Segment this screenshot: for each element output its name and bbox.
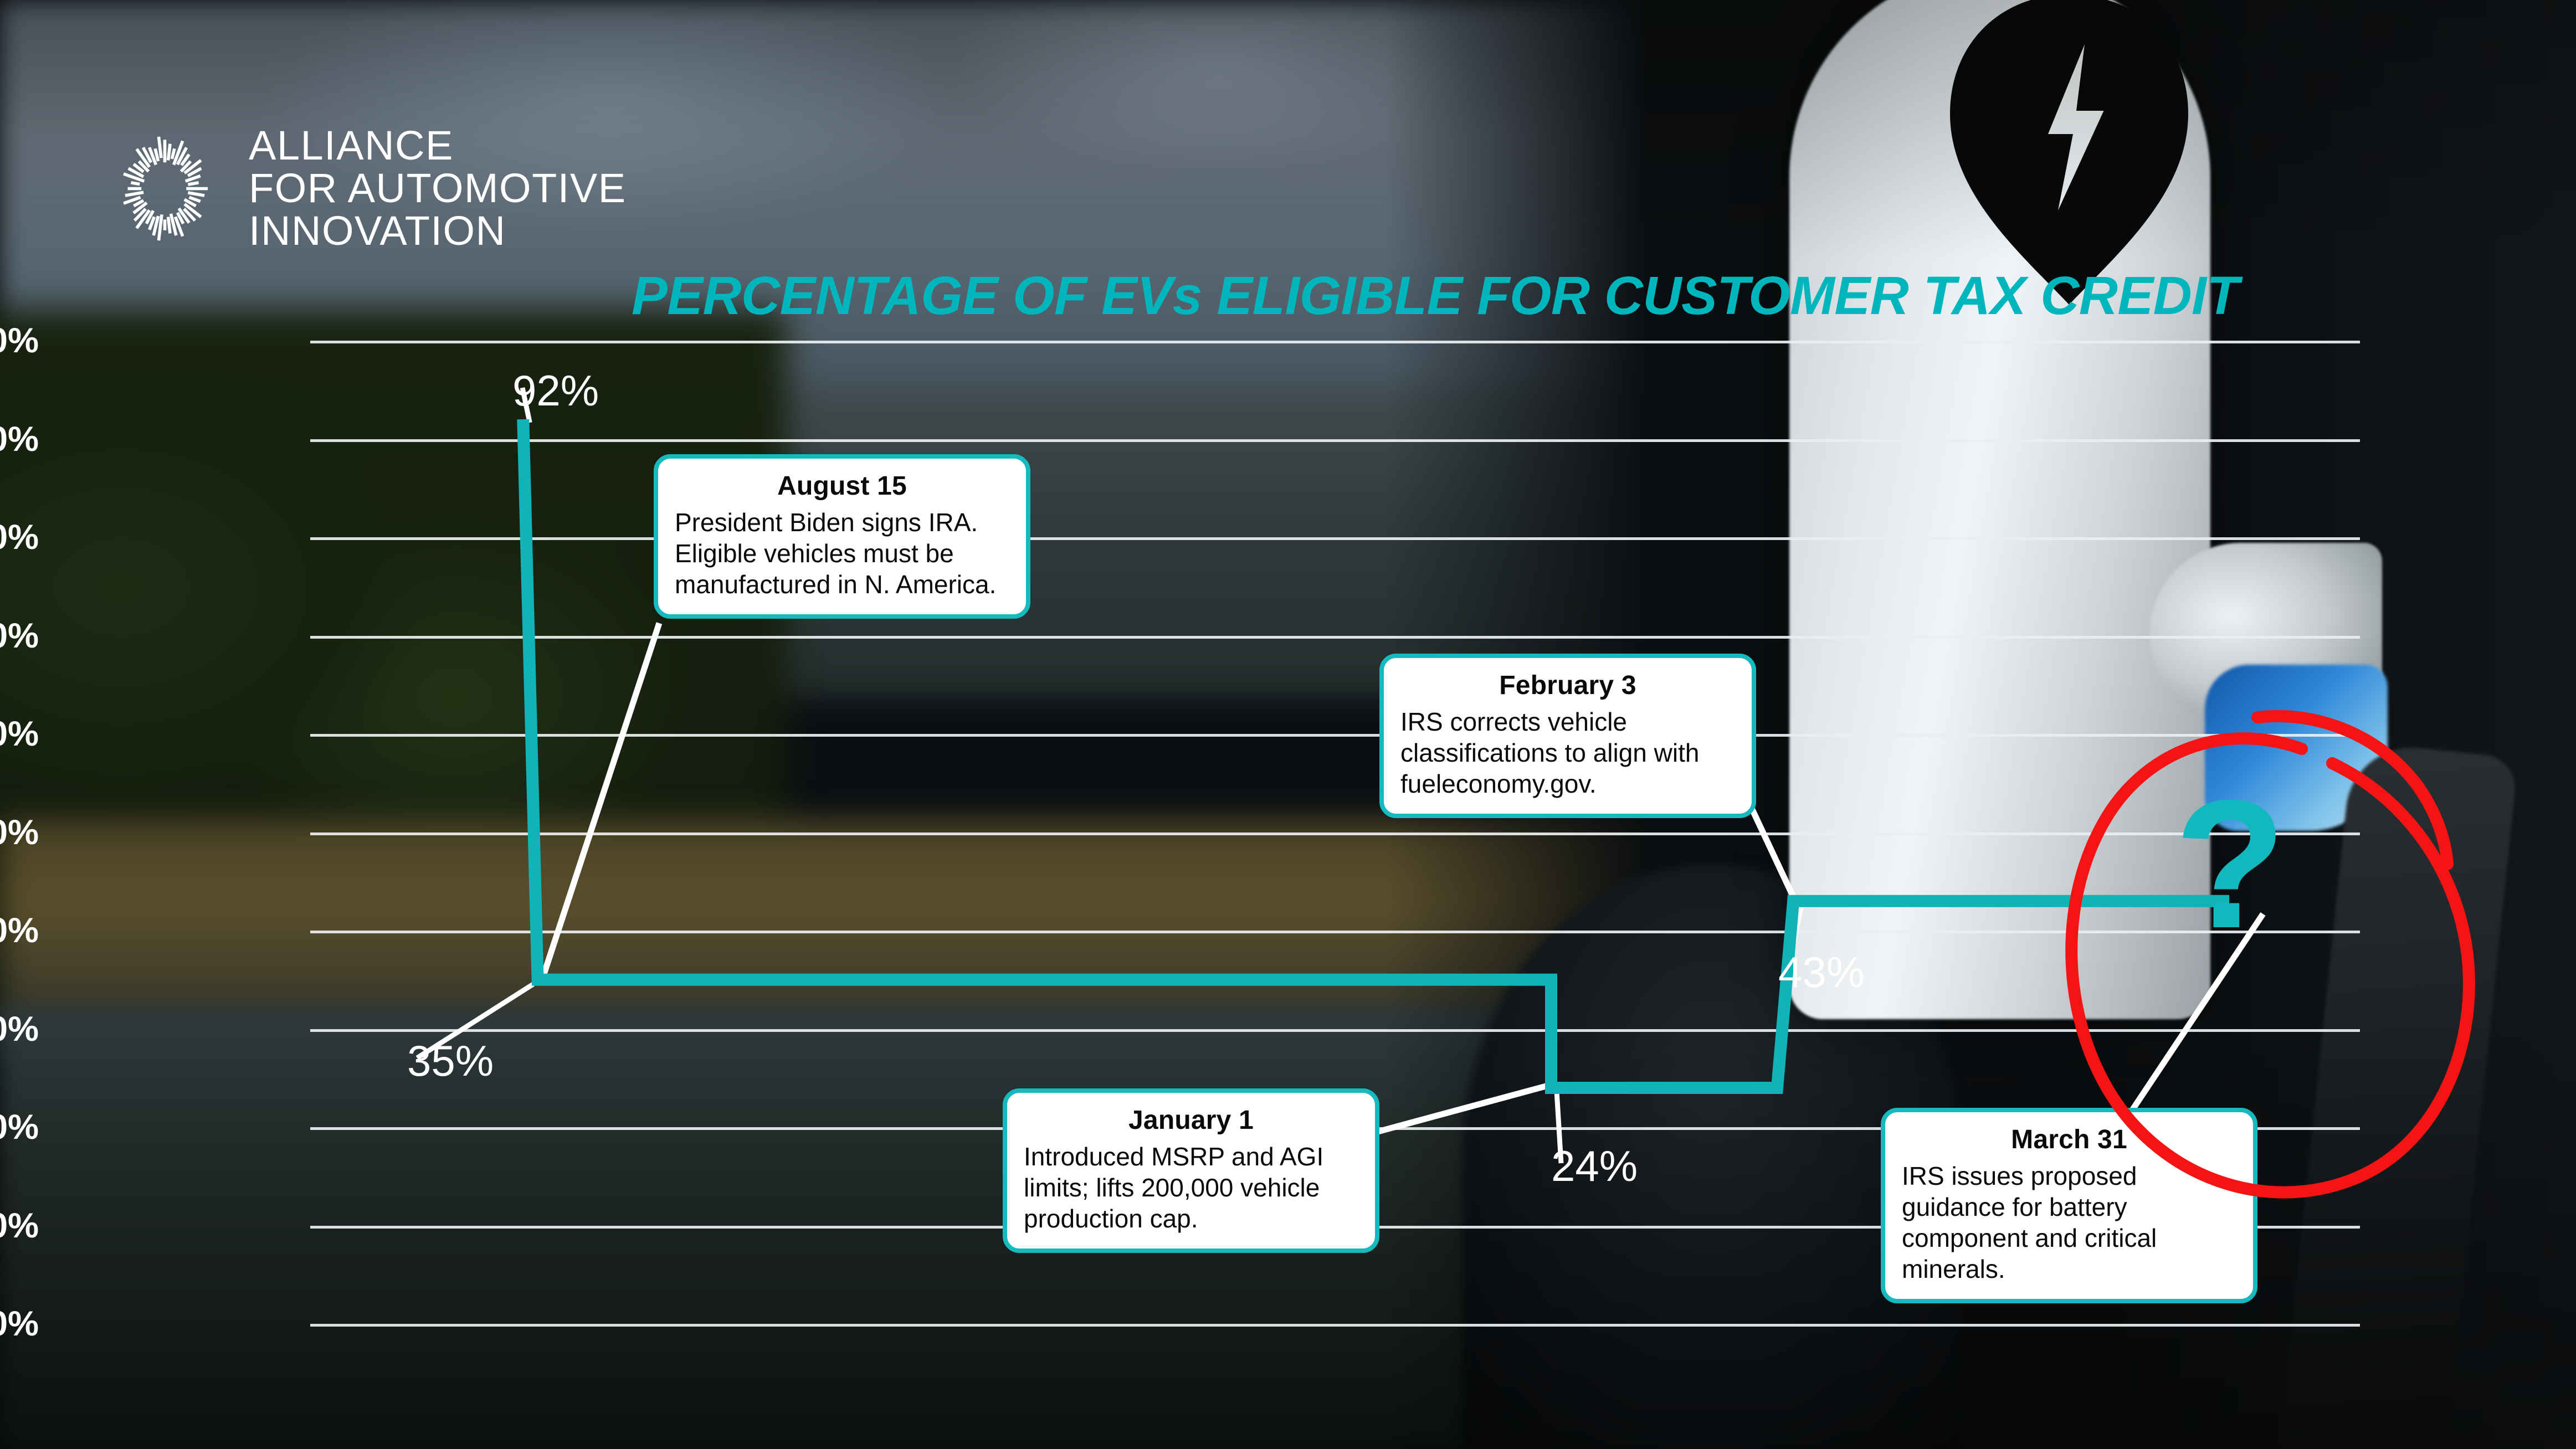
infographic-canvas: ALLIANCE FOR AUTOMOTIVE INNOVATION PERCE… [0,0,2576,1449]
red-circle-stroke [2071,738,2469,1192]
red-circle-annotation [0,0,2576,1449]
